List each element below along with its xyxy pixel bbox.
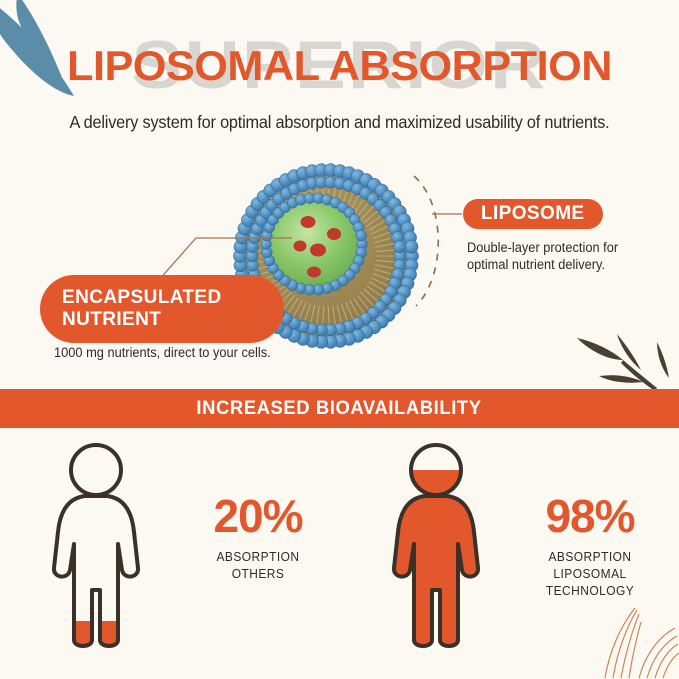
title-block: SUPERIOR LIPOSOMAL ABSORPTION (0, 22, 679, 100)
bioavailability-banner: INCREASED BIOAVAILABILITY (0, 389, 679, 428)
person-figure-liposomal (388, 440, 500, 655)
callout-liposome-label: LIPOSOME (481, 203, 585, 225)
stat-label-liposomal-line2: LIPOSOMAL TECHNOLOGY (516, 565, 663, 599)
callout-encapsulated-nutrient: ENCAPSULATED NUTRIENT (40, 275, 284, 343)
percent-liposomal: 98% (510, 490, 670, 542)
stat-label-others-line1: ABSORPTION (184, 548, 331, 565)
stat-others: 20% ABSORPTION OTHERS (178, 490, 338, 582)
callout-liposome: LIPOSOME (463, 199, 603, 229)
comparison-section: 20% ABSORPTION OTHERS (0, 432, 679, 679)
stat-label-others: ABSORPTION OTHERS (184, 548, 331, 582)
banner-text: INCREASED BIOAVAILABILITY (197, 398, 482, 420)
stat-liposomal: 98% ABSORPTION LIPOSOMAL TECHNOLOGY (510, 490, 670, 599)
stat-label-others-line2: OTHERS (184, 565, 331, 582)
comparison-column-others: 20% ABSORPTION OTHERS (0, 432, 340, 679)
callout-encapsulated-label: ENCAPSULATED NUTRIENT (62, 287, 262, 331)
callout-liposome-description: Double-layer protection for optimal nutr… (467, 239, 648, 273)
subtitle: A delivery system for optimal absorption… (24, 112, 655, 133)
stat-label-liposomal-line1: ABSORPTION (516, 548, 663, 565)
person-figure-others (48, 440, 160, 655)
header: SUPERIOR LIPOSOMAL ABSORPTION (0, 22, 679, 100)
infographic-canvas: SUPERIOR LIPOSOMAL ABSORPTION A delivery… (0, 0, 679, 679)
page-title: LIPOSOMAL ABSORPTION (0, 42, 679, 90)
stat-label-liposomal: ABSORPTION LIPOSOMAL TECHNOLOGY (516, 548, 663, 599)
percent-others: 20% (178, 490, 338, 542)
comparison-column-liposomal: 98% ABSORPTION LIPOSOMAL TECHNOLOGY (340, 432, 679, 679)
callout-encapsulated-description: 1000 mg nutrients, direct to your cells. (54, 344, 339, 361)
